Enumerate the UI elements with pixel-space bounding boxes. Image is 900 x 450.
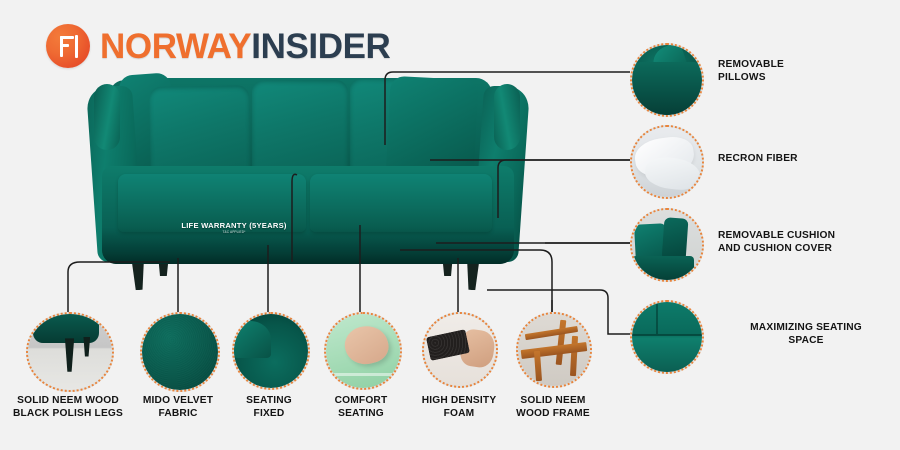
label-line2: FIXED <box>226 407 312 420</box>
callout-circle-wood-frame[interactable] <box>516 312 592 388</box>
label-line2: FABRIC <box>132 407 224 420</box>
label-line1: REMOVABLE <box>718 58 878 71</box>
brand-logo: NORWAYINSIDER <box>46 24 390 68</box>
fi-monogram-icon <box>46 24 90 68</box>
callout-circle-recron-fiber[interactable] <box>630 125 704 199</box>
callout-circle-high-density-foam[interactable] <box>422 312 498 388</box>
brand-name-part1: NORWAY <box>100 27 251 66</box>
callout-circle-seating-fixed[interactable] <box>232 312 310 390</box>
warranty-subtitle: T&C APPLIED* <box>134 231 334 235</box>
infographic-canvas: NORWAYINSIDER LIFE WARRANTY (5YEARS) T&C… <box>0 0 900 450</box>
callout-circle-removable-cushion[interactable] <box>630 208 704 282</box>
label-line1: REMOVABLE CUSHION <box>718 229 894 242</box>
label-line1: SOLID NEEM WOOD <box>6 394 130 407</box>
label-line2: AND CUSHION COVER <box>718 242 894 255</box>
callout-label-recron-fiber: RECRON FIBER <box>718 152 888 165</box>
sofa-arm-roll-right <box>494 84 520 150</box>
callout-label-maximizing-space: MAXIMIZING SEATING SPACE <box>718 321 894 348</box>
label-line2: SEATING <box>318 407 404 420</box>
callout-circle-velvet-fabric[interactable] <box>140 312 220 392</box>
callout-label-wood-legs: SOLID NEEM WOOD BLACK POLISH LEGS <box>6 394 130 421</box>
brand-wordmark: NORWAYINSIDER <box>100 29 390 64</box>
callout-circle-removable-pillows[interactable] <box>630 43 704 117</box>
label-line1: RECRON FIBER <box>718 152 888 165</box>
warranty-title: LIFE WARRANTY (5YEARS) <box>181 221 286 230</box>
warranty-badge: LIFE WARRANTY (5YEARS) T&C APPLIED* <box>134 222 334 235</box>
sofa-product-image: LIFE WARRANTY (5YEARS) T&C APPLIED* <box>80 70 540 322</box>
label-line2: WOOD FRAME <box>504 407 602 420</box>
callout-label-high-density-foam: HIGH DENSITY FOAM <box>412 394 506 421</box>
callout-label-comfort-seating: COMFORT SEATING <box>318 394 404 421</box>
callout-label-velvet-fabric: MIDO VELVET FABRIC <box>132 394 224 421</box>
label-line2: SPACE <box>718 334 894 347</box>
label-line1: HIGH DENSITY <box>412 394 506 407</box>
callout-circle-wood-legs[interactable] <box>26 312 114 392</box>
callout-label-seating-fixed: SEATING FIXED <box>226 394 312 421</box>
label-line1: SEATING <box>226 394 312 407</box>
label-line1: SOLID NEEM <box>504 394 602 407</box>
label-line1: MIDO VELVET <box>132 394 224 407</box>
sofa-arm-roll-left <box>94 84 120 150</box>
callout-label-removable-pillows: REMOVABLE PILLOWS <box>718 58 878 85</box>
label-line2: FOAM <box>412 407 506 420</box>
label-line2: BLACK POLISH LEGS <box>6 407 130 420</box>
label-line1: COMFORT <box>318 394 404 407</box>
callout-circle-comfort-seating[interactable] <box>324 312 402 390</box>
brand-name-part2: INSIDER <box>251 27 390 66</box>
label-line1: MAXIMIZING SEATING <box>718 321 894 334</box>
callout-circle-maximizing-space[interactable] <box>630 300 704 374</box>
callout-label-wood-frame: SOLID NEEM WOOD FRAME <box>504 394 602 421</box>
sofa-seat-cushion-right <box>310 174 492 232</box>
callout-label-removable-cushion: REMOVABLE CUSHION AND CUSHION COVER <box>718 229 894 256</box>
label-line2: PILLOWS <box>718 71 878 84</box>
